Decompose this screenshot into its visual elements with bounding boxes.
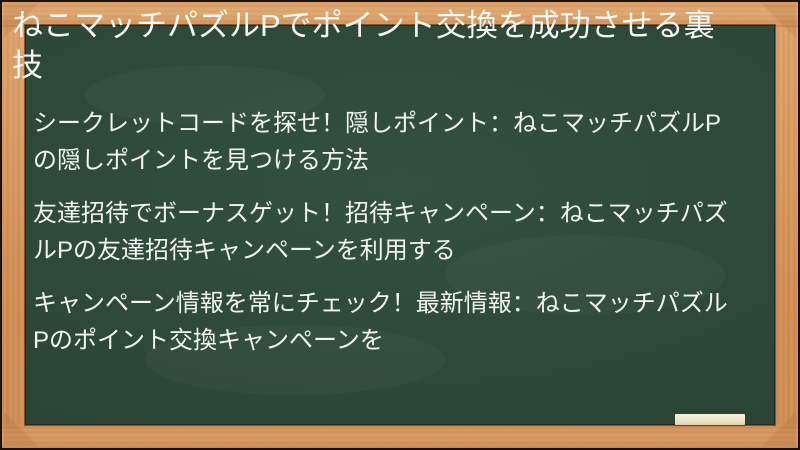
- chalk-eraser: [675, 414, 745, 425]
- list-item[interactable]: シークレットコードを探せ！隠しポイント：ねこマッチパズルPの隠しポイントを見つけ…: [33, 105, 732, 179]
- list-item[interactable]: キャンペーン情報を常にチェック！最新情報：ねこマッチパズルPのポイント交換キャン…: [33, 285, 732, 359]
- chalkboard-slide: ねこマッチパズルPでポイント交換を成功させる裏技 シークレットコードを探せ！隠し…: [0, 0, 800, 450]
- list-item[interactable]: 友達招待でボーナスゲット！招待キャンペーン：ねこマッチパズルPの友達招待キャンペ…: [33, 195, 732, 269]
- page-title: ねこマッチパズルPでポイント交換を成功させる裏技: [0, 0, 750, 86]
- frame-bottom-rail: [2, 423, 798, 448]
- board-content: ねこマッチパズルPでポイント交換を成功させる裏技 シークレットコードを探せ！隠し…: [0, 0, 750, 359]
- topic-list: シークレットコードを探せ！隠しポイント：ねこマッチパズルPの隠しポイントを見つけ…: [0, 86, 750, 359]
